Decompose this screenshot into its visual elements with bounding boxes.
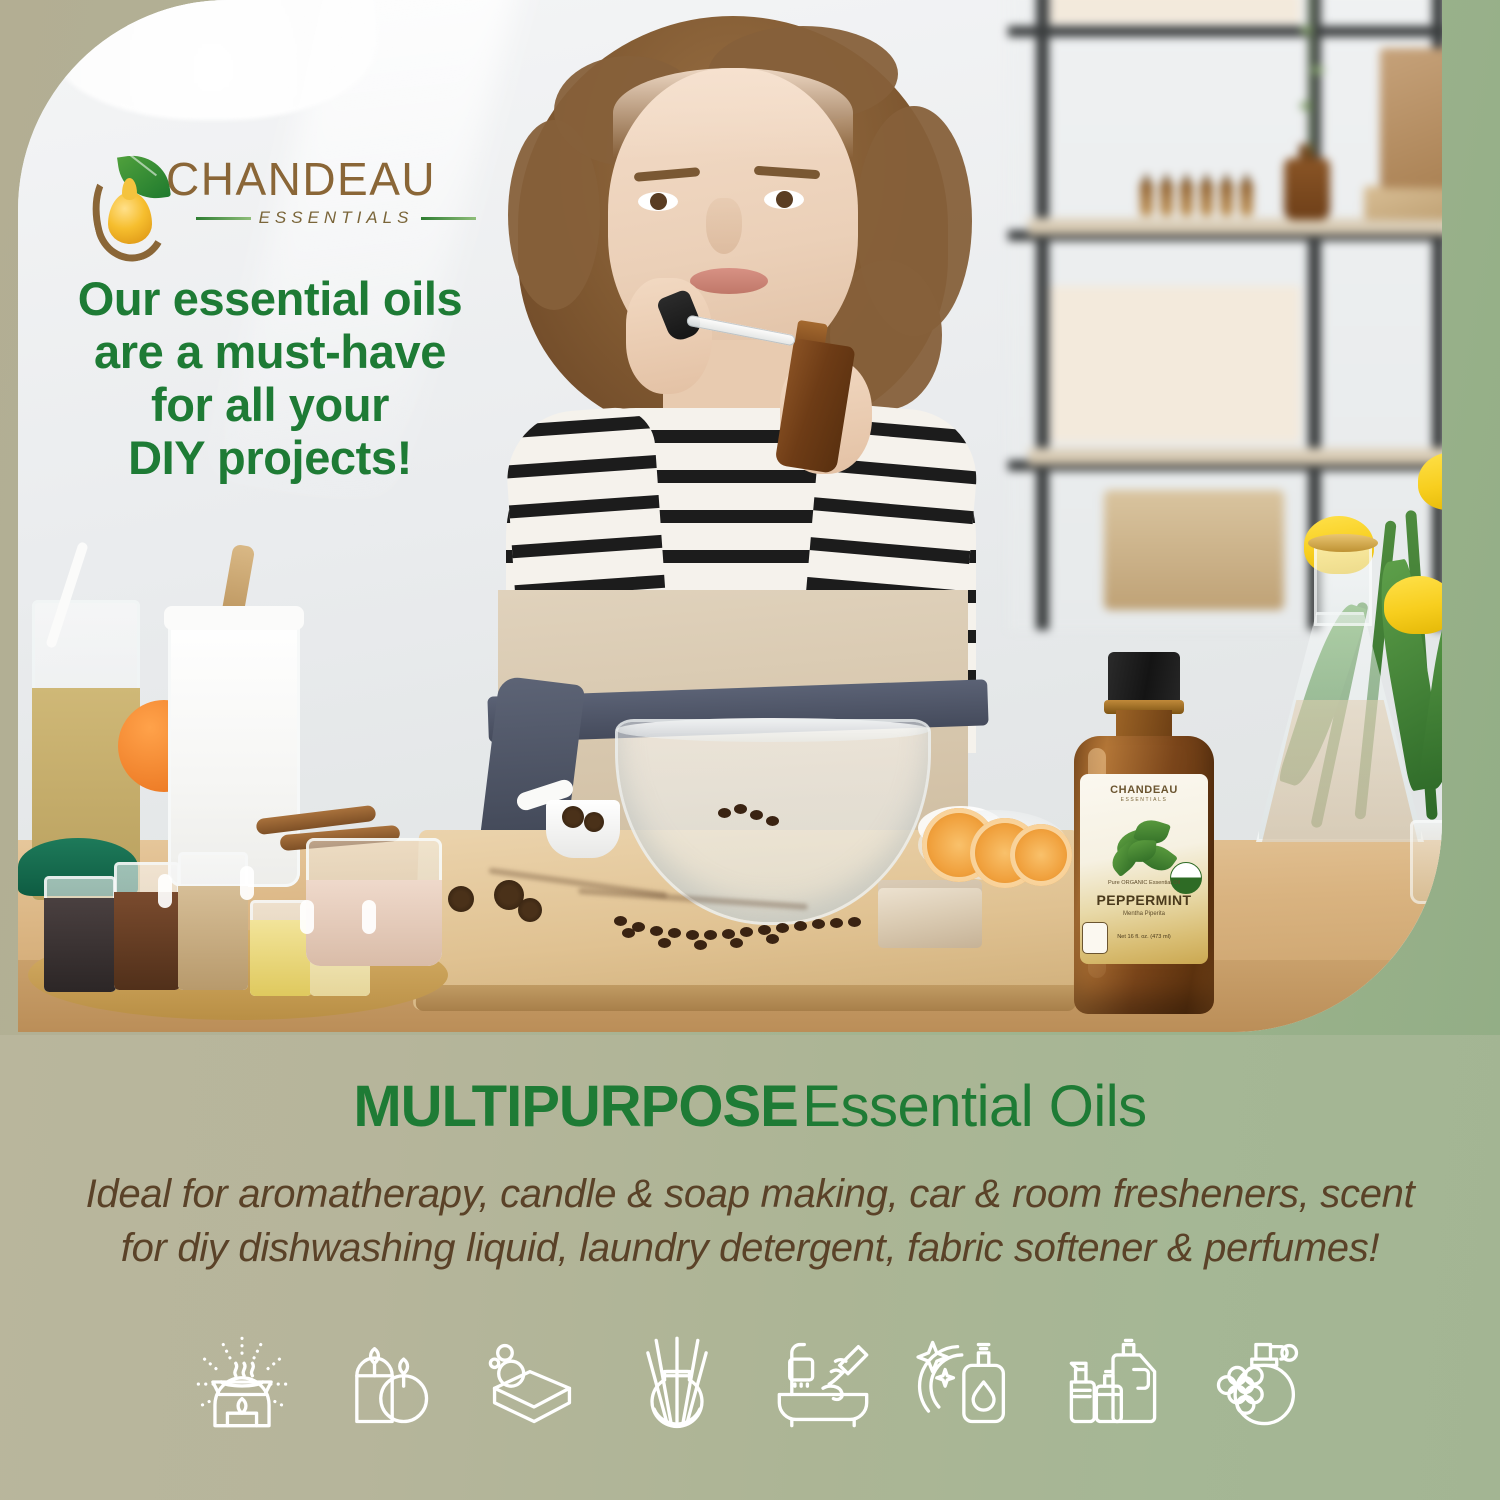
dish-soap-icon (916, 1330, 1020, 1434)
headline-line-3: for all your (60, 378, 480, 431)
banner-subtitle: Ideal for aromatherapy, candle & soap ma… (40, 1168, 1460, 1275)
tulip-flower (1384, 576, 1442, 634)
label-net-volume: Net 16 fl. oz. (473 ml) (1080, 934, 1208, 940)
banner-title-bold: MULTIPURPOSE (353, 1074, 798, 1139)
headline: Our essential oils are a must-have for a… (60, 272, 480, 484)
marketing-infographic: CHANDEAU ESSENTIALS Pure ORGANIC Essenti… (0, 0, 1500, 1500)
product-bottle: CHANDEAU ESSENTIALS Pure ORGANIC Essenti… (1070, 652, 1218, 1018)
banner-subtitle-line-1: Ideal for aromatherapy, candle & soap ma… (40, 1168, 1460, 1222)
logo-rule-right (421, 217, 476, 220)
soap-bar-icon (480, 1330, 584, 1434)
headline-line-1: Our essential oils (60, 272, 480, 325)
background-shelving (1008, 0, 1442, 630)
product-label: CHANDEAU ESSENTIALS Pure ORGANIC Essenti… (1080, 774, 1208, 964)
label-brand-name: CHANDEAU (1080, 784, 1208, 796)
label-oil-name: PEPPERMINT (1080, 892, 1208, 908)
peppermint-leaf-art (1108, 816, 1180, 874)
soap-bar (878, 880, 982, 948)
label-brand-sub: ESSENTIALS (1080, 797, 1208, 803)
detergent-spray-icon (1061, 1330, 1165, 1434)
bottle-cap (1108, 652, 1180, 704)
use-case-icon-row (190, 1312, 1310, 1452)
logo-rule-left (196, 217, 251, 220)
headline-line-2: are a must-have (60, 325, 480, 378)
leaf-droplet-logo-icon (86, 156, 162, 256)
brand-tagline: ESSENTIALS (259, 208, 414, 228)
headline-line-4: DIY projects! (60, 431, 480, 484)
usda-organic-seal (1170, 862, 1202, 894)
brand-name: CHANDEAU (166, 156, 476, 202)
perfume-bottle-icon (1206, 1330, 1310, 1434)
banner-title-regular: Essential Oils (802, 1074, 1146, 1139)
bath-dropper-icon (771, 1330, 875, 1434)
label-botanical-name: Mentha Piperita (1080, 911, 1208, 917)
oil-burner-icon (190, 1330, 294, 1434)
label-pure-line: Pure ORGANIC Essential Oil (1080, 880, 1208, 886)
brand-logo[interactable]: CHANDEAU ESSENTIALS (86, 150, 476, 268)
banner-title: MULTIPURPOSE Essential Oils (0, 1073, 1500, 1140)
candle-icon (335, 1330, 439, 1434)
reed-diffuser-icon (625, 1330, 729, 1434)
ramekin-dish (546, 800, 620, 858)
banner-subtitle-line-2: for diy dishwashing liquid, laundry dete… (40, 1222, 1460, 1276)
